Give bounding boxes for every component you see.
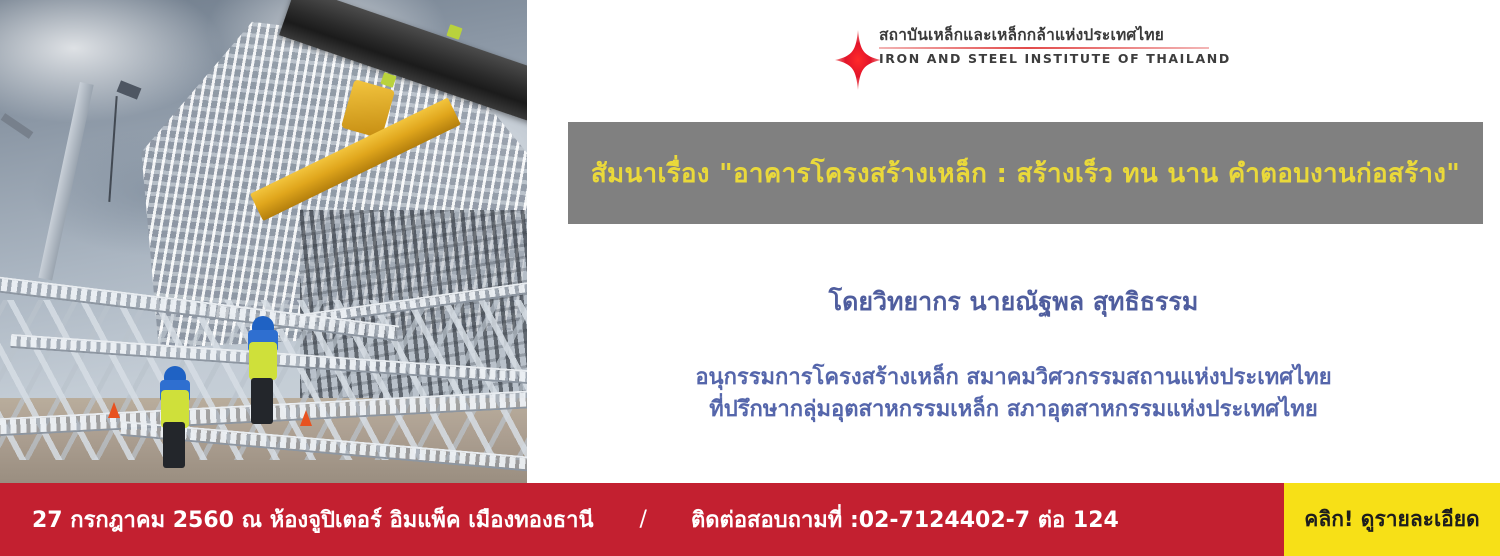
seminar-banner: สถาบันเหล็กและเหล็กกล้าแห่งประเทศไทย IRO… — [0, 0, 1500, 556]
affiliation-line-2: ที่ปรึกษากลุ่มอุตสาหกรรมเหล็ก สภาอุตสาหก… — [527, 394, 1500, 426]
speaker-affiliations: อนุกรรมการโครงสร้างเหล็ก สมาคมวิศวกรรมสถ… — [527, 362, 1500, 426]
isit-logo: สถาบันเหล็กและเหล็กกล้าแห่งประเทศไทย IRO… — [835, 24, 1215, 96]
content-panel: สถาบันเหล็กและเหล็กกล้าแห่งประเทศไทย IRO… — [527, 0, 1500, 483]
red-star-icon — [835, 30, 881, 90]
affiliation-line-1: อนุกรรมการโครงสร้างเหล็ก สมาคมวิศวกรรมสถ… — [527, 362, 1500, 394]
logo-text-block: สถาบันเหล็กและเหล็กกล้าแห่งประเทศไทย IRO… — [879, 24, 1215, 66]
logo-english-name: IRON AND STEEL INSTITUTE OF THAILAND — [879, 51, 1215, 66]
footer-contact: ติดต่อสอบถามที่ :02-7124402-7 ต่อ 124 — [691, 502, 1119, 537]
seminar-title: สัมนาเรื่อง "อาคารโครงสร้างเหล็ก : สร้าง… — [591, 153, 1460, 194]
footer-separator: / — [640, 507, 647, 532]
logo-thai-name: สถาบันเหล็กและเหล็กกล้าแห่งประเทศไทย — [879, 24, 1215, 46]
seminar-title-bar: สัมนาเรื่อง "อาคารโครงสร้างเหล็ก : สร้าง… — [568, 122, 1483, 224]
footer-date-venue: 27 กรกฎาคม 2560 ณ ห้องจูปิเตอร์ อิมแพ็ค … — [32, 502, 594, 537]
worker-legs — [163, 422, 185, 468]
construction-site-photo — [0, 0, 527, 483]
footer-bar: 27 กรกฎาคม 2560 ณ ห้องจูปิเตอร์ อิมแพ็ค … — [0, 483, 1500, 556]
footer-info-bar: 27 กรกฎาคม 2560 ณ ห้องจูปิเตอร์ อิมแพ็ค … — [0, 483, 1280, 556]
seminar-speaker: โดยวิทยากร นายณัฐพล สุทธิธรรม — [527, 282, 1500, 322]
logo-divider — [879, 47, 1209, 49]
worker-legs — [251, 378, 273, 424]
safety-vest — [249, 342, 277, 380]
view-details-button[interactable]: คลิก! ดูรายละเอียด — [1280, 483, 1500, 556]
